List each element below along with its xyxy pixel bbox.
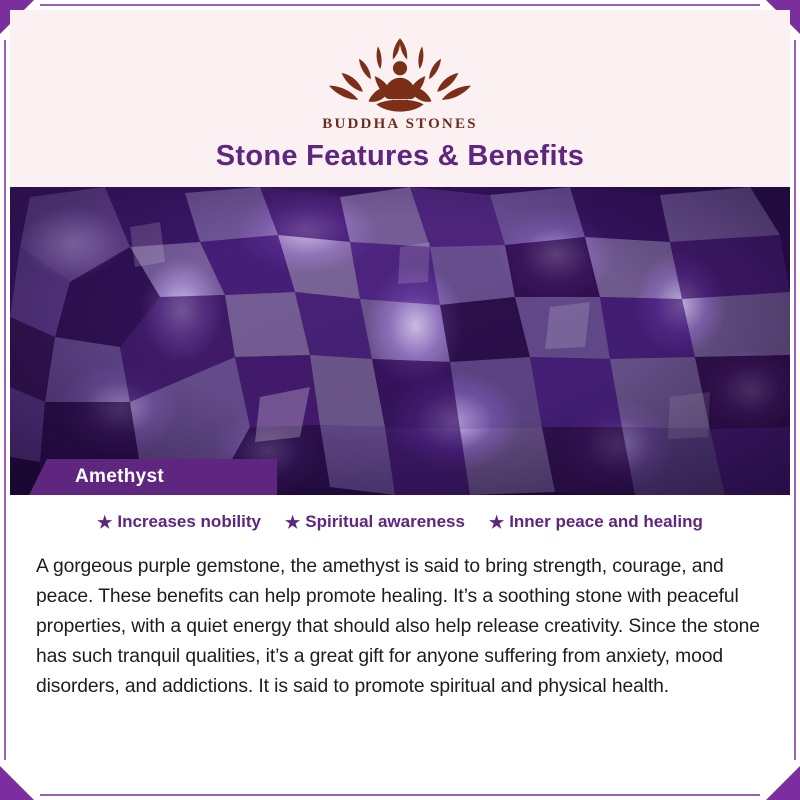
frame-line-left	[4, 40, 6, 760]
frame-line-right	[794, 40, 796, 760]
brand-logo: BUDDHA STONES	[320, 32, 480, 133]
benefit-item: ★ Spiritual awareness	[285, 512, 465, 532]
stone-description: A gorgeous purple gemstone, the amethyst…	[36, 552, 776, 702]
card-header: BUDDHA STONES Stone Features & Benefits	[10, 10, 790, 187]
star-icon: ★	[97, 514, 112, 531]
corner-decoration-bottom-left	[0, 766, 34, 800]
hero-vignette	[10, 187, 790, 495]
page-title: Stone Features & Benefits	[216, 140, 584, 173]
stone-name-banner: Amethyst	[47, 459, 277, 495]
lotus-meditation-figure-icon	[320, 32, 480, 114]
benefit-label: Increases nobility	[117, 512, 261, 532]
star-icon: ★	[285, 514, 300, 531]
frame-line-top	[40, 4, 760, 6]
corner-decoration-bottom-right	[766, 766, 800, 800]
benefit-label: Inner peace and healing	[509, 512, 703, 532]
stone-name: Amethyst	[75, 466, 164, 488]
benefit-item: ★ Inner peace and healing	[489, 512, 703, 532]
benefit-label: Spiritual awareness	[305, 512, 465, 532]
stone-hero-image: Amethyst	[10, 187, 790, 495]
benefits-row: ★ Increases nobility ★ Spiritual awarene…	[0, 512, 800, 532]
product-info-card: BUDDHA STONES Stone Features & Benefits	[0, 0, 800, 800]
frame-line-bottom	[40, 794, 760, 796]
brand-name: BUDDHA STONES	[322, 116, 477, 133]
benefit-item: ★ Increases nobility	[97, 512, 261, 532]
star-icon: ★	[489, 514, 504, 531]
